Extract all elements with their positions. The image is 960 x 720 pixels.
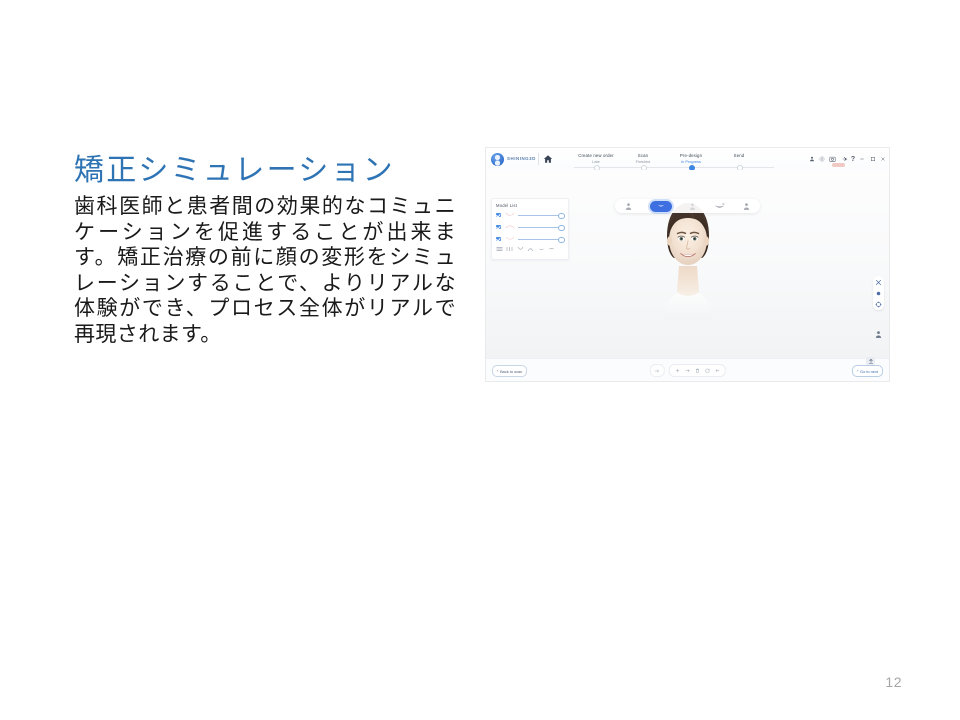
help-icon[interactable]: ? bbox=[851, 156, 855, 163]
system-icon-group: ? bbox=[809, 152, 886, 166]
chevron-right-icon: › bbox=[857, 369, 858, 373]
model-list-title: Model List bbox=[496, 203, 517, 208]
model-checkbox[interactable] bbox=[496, 213, 501, 218]
redo-icon[interactable] bbox=[714, 368, 720, 374]
chevron-left-icon: ‹ bbox=[497, 369, 498, 373]
opacity-slider-track[interactable] bbox=[518, 239, 560, 240]
teeth-tool-icon[interactable] bbox=[687, 201, 698, 212]
move-icon[interactable] bbox=[684, 368, 690, 374]
user-avatar-icon bbox=[491, 153, 504, 166]
workflow-stepper: Create new order Late Scan Finished Pre-… bbox=[566, 150, 781, 170]
close-icon[interactable] bbox=[880, 156, 886, 162]
reset-icon[interactable] bbox=[704, 368, 710, 374]
bottom-tool-group bbox=[649, 364, 726, 377]
go-to-next-button[interactable]: › Go to next bbox=[852, 365, 883, 377]
view-lower-icon[interactable] bbox=[517, 246, 524, 252]
page-number: 12 bbox=[885, 674, 902, 690]
text-content-block: 矯正シミュレーション 歯科医師と患者間の効果的なコミュニケーションを促進すること… bbox=[74, 152, 456, 347]
opacity-slider-knob[interactable] bbox=[558, 237, 565, 244]
gear-icon[interactable] bbox=[841, 156, 847, 162]
opacity-slider-track[interactable] bbox=[518, 227, 560, 228]
view-upper-icon[interactable] bbox=[527, 246, 534, 252]
person-toggle-icon[interactable] bbox=[874, 330, 883, 339]
model-row-lower-arch[interactable] bbox=[496, 222, 564, 232]
portrait-tool-icon[interactable] bbox=[741, 201, 752, 212]
pointer-tool-button[interactable] bbox=[649, 364, 664, 377]
back-button-label: Back to scan bbox=[500, 369, 522, 374]
header-divider bbox=[538, 153, 539, 165]
stepper-track bbox=[574, 167, 774, 168]
model-viewport[interactable]: Model List bbox=[486, 170, 889, 359]
model-list-panel: Model List bbox=[491, 198, 569, 260]
slide-canvas: 矯正シミュレーション 歯科医師と患者間の効果的なコミュニケーションを促進すること… bbox=[0, 0, 960, 720]
page-title: 矯正シミュレーション bbox=[74, 152, 456, 190]
opacity-slider-track[interactable] bbox=[518, 215, 560, 216]
measure-icon[interactable] bbox=[875, 279, 882, 286]
upper-arch-thumbnail bbox=[504, 211, 516, 219]
app-bottom-bar: ‹ Back to scan bbox=[486, 358, 889, 381]
edit-tool-group bbox=[668, 364, 726, 377]
step-status: In Progress bbox=[661, 159, 721, 164]
app-header-bar: SHINING3D Create new order Late Scan Fin… bbox=[486, 148, 889, 171]
model-row-upper-arch[interactable] bbox=[496, 210, 564, 220]
workflow-step-send[interactable]: Send bbox=[709, 153, 769, 159]
model-checkbox[interactable] bbox=[496, 225, 501, 230]
arch-tool-icon[interactable] bbox=[714, 201, 725, 212]
upload-icon[interactable] bbox=[866, 357, 875, 365]
brand-label: SHINING3D bbox=[507, 156, 536, 161]
marker-icon[interactable] bbox=[875, 290, 882, 297]
user-icon[interactable] bbox=[809, 156, 815, 162]
home-icon[interactable] bbox=[543, 154, 553, 164]
model-checkbox[interactable] bbox=[496, 237, 501, 242]
undo-icon[interactable] bbox=[674, 368, 680, 374]
opacity-slider-knob[interactable] bbox=[558, 213, 565, 220]
application-screenshot: SHINING3D Create new order Late Scan Fin… bbox=[486, 148, 889, 381]
right-tool-rail bbox=[873, 276, 884, 310]
view-front-icon[interactable] bbox=[496, 246, 503, 252]
model-row-full-arch[interactable] bbox=[496, 234, 564, 244]
back-to-scan-button[interactable]: ‹ Back to scan bbox=[492, 365, 527, 377]
minimize-icon[interactable] bbox=[859, 156, 865, 162]
notification-badge bbox=[832, 163, 845, 167]
view-preset-icons bbox=[496, 246, 564, 252]
screenshot-icon[interactable] bbox=[829, 156, 836, 162]
opacity-slider-knob[interactable] bbox=[558, 225, 565, 232]
full-arch-thumbnail bbox=[504, 235, 516, 243]
view-left-icon[interactable] bbox=[538, 246, 545, 252]
view-right-icon[interactable] bbox=[548, 246, 555, 252]
body-paragraph: 歯科医師と患者間の効果的なコミュニケーションを促進することが出来ます。矯正治療の… bbox=[74, 194, 456, 347]
lower-arch-thumbnail bbox=[504, 223, 516, 231]
next-button-label: Go to next bbox=[860, 369, 878, 374]
globe-icon[interactable] bbox=[819, 156, 825, 162]
settings-tool-icon[interactable] bbox=[875, 301, 882, 308]
face-scan-tool-icon[interactable] bbox=[623, 201, 634, 212]
delete-icon[interactable] bbox=[694, 368, 700, 374]
step-label: Send bbox=[709, 153, 769, 158]
maximize-icon[interactable] bbox=[870, 156, 876, 162]
smile-design-tool-icon[interactable] bbox=[650, 201, 672, 212]
view-occlusal-icon[interactable] bbox=[506, 246, 513, 252]
viewport-tool-pill bbox=[615, 199, 760, 213]
